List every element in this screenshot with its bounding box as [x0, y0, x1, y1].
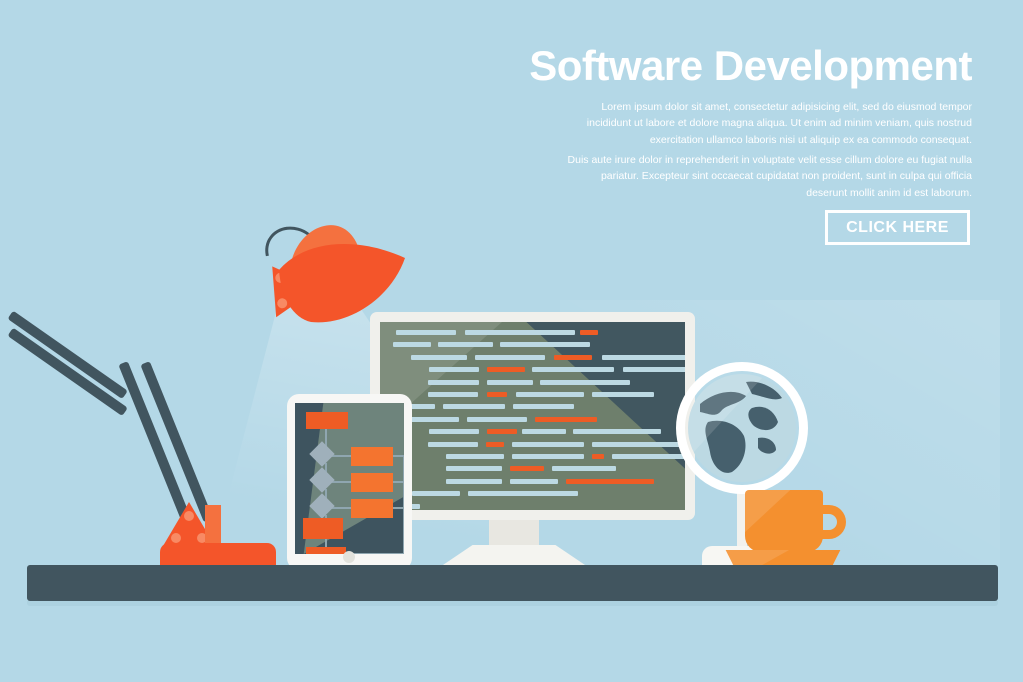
code-line-segment — [623, 367, 685, 372]
code-line-segment — [513, 404, 574, 409]
flowchart-process-node — [351, 499, 393, 518]
code-line-segment — [428, 392, 478, 397]
desk-edge-shadow — [27, 601, 998, 606]
code-line-segment — [475, 355, 545, 360]
code-line-segment — [592, 392, 654, 397]
flowchart-connector — [331, 481, 351, 483]
intro-paragraph-1: Lorem ipsum dolor sit amet, consectetur … — [560, 99, 972, 148]
code-line-segment — [566, 479, 654, 484]
code-line-segment — [468, 491, 578, 496]
code-line-segment — [573, 429, 661, 434]
tablet-device[interactable] — [287, 394, 412, 570]
code-line-segment — [510, 466, 544, 471]
code-line-segment — [512, 454, 584, 459]
code-line-segment — [540, 380, 630, 385]
code-line-segment — [411, 355, 467, 360]
globe-stand-ring — [676, 362, 808, 494]
code-line-segment — [500, 342, 590, 347]
flowchart-process-node — [306, 547, 346, 554]
lamp-arm-upper — [7, 311, 127, 399]
lamp-base — [160, 543, 276, 567]
code-line-segment — [580, 330, 598, 335]
code-line-segment — [592, 454, 604, 459]
tablet-home-button[interactable] — [343, 551, 355, 563]
desktop-monitor[interactable] — [370, 312, 695, 520]
tablet-screen — [295, 403, 404, 554]
code-line-segment — [429, 367, 479, 372]
cup-highlight — [745, 490, 823, 552]
flowchart-connector — [347, 553, 404, 554]
code-line-segment — [465, 330, 575, 335]
code-line-segment — [510, 479, 558, 484]
code-line-segment — [487, 380, 533, 385]
flowchart-connector — [403, 455, 404, 554]
code-line-segment — [487, 429, 517, 434]
flowchart-connector — [331, 455, 351, 457]
flowchart-connector — [331, 507, 351, 509]
code-line-segment — [428, 442, 478, 447]
code-line-segment — [412, 491, 460, 496]
code-line-segment — [516, 392, 584, 397]
flowchart-process-node — [351, 447, 393, 466]
code-line-segment — [393, 342, 431, 347]
code-line-segment — [467, 417, 527, 422]
code-line-segment — [438, 342, 493, 347]
coffee-cup — [745, 490, 823, 552]
code-line-segment — [522, 429, 566, 434]
code-line-segment — [443, 404, 505, 409]
flowchart-process-node — [351, 473, 393, 492]
code-line-segment — [552, 466, 616, 471]
code-line-segment — [487, 392, 507, 397]
code-line-segment — [396, 330, 456, 335]
lamp-arm-upper-2 — [7, 328, 127, 416]
click-here-button[interactable]: CLICK HERE — [825, 210, 970, 245]
flowchart-process-node — [303, 518, 343, 539]
code-line-segment — [487, 367, 525, 372]
code-line-segment — [429, 429, 479, 434]
code-line-segment — [592, 442, 682, 447]
code-line-segment — [446, 466, 502, 471]
code-line-segment — [554, 355, 592, 360]
code-line-segment — [486, 442, 504, 447]
code-line-segment — [512, 442, 584, 447]
page-title: Software Development — [420, 44, 972, 88]
code-line-segment — [602, 355, 685, 360]
code-line-segment — [532, 367, 614, 372]
code-line-segment — [612, 454, 685, 459]
code-line-segment — [535, 417, 597, 422]
monitor-screen — [380, 322, 685, 510]
code-line-segment — [446, 479, 502, 484]
illustration-canvas: Software Development Lorem ipsum dolor s… — [0, 0, 1023, 682]
desk-surface — [27, 565, 998, 601]
flowchart-process-node — [306, 412, 348, 429]
code-line-segment — [428, 380, 479, 385]
code-line-segment — [446, 454, 504, 459]
intro-paragraph-2: Duis aute irure dolor in reprehenderit i… — [560, 152, 972, 201]
monitor-base — [440, 545, 588, 567]
